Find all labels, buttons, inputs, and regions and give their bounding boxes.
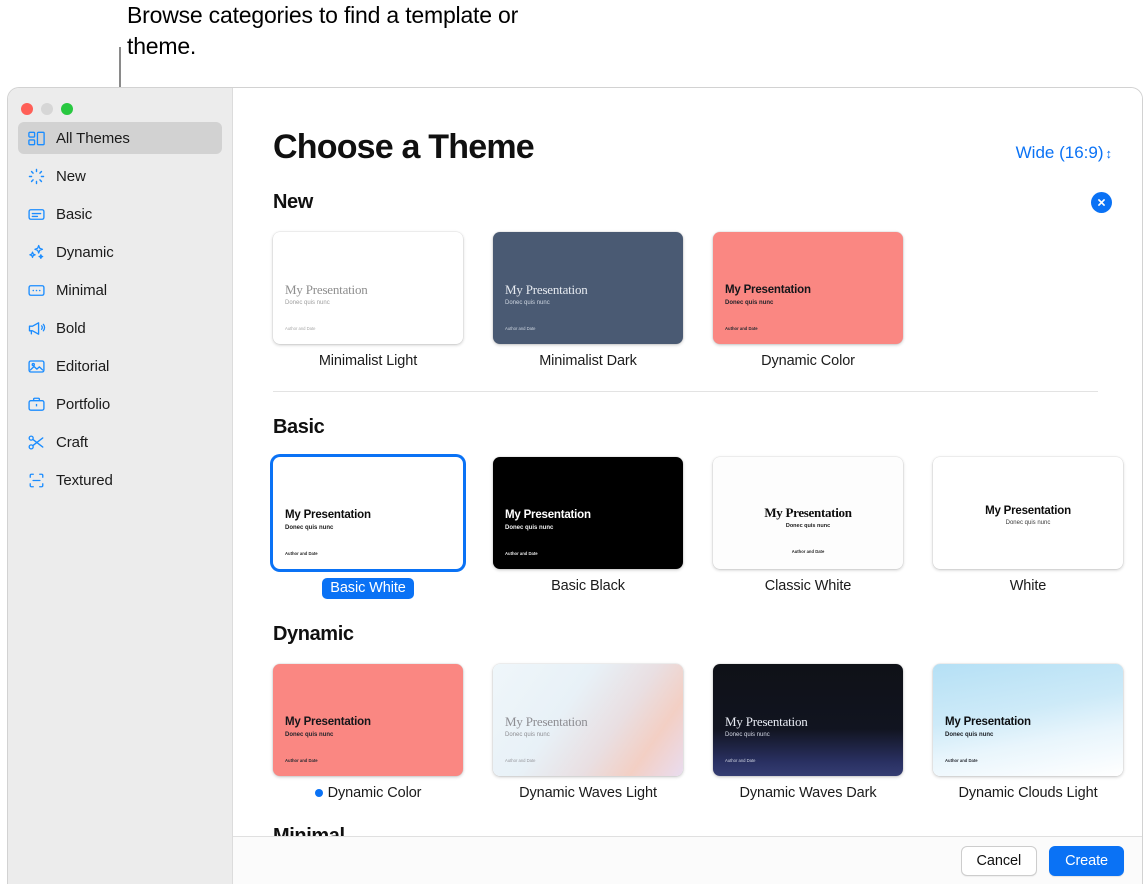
theme-card-classic-white[interactable]: My Presentation Donec quis nunc Author a… <box>713 457 903 594</box>
theme-scroll-area[interactable]: Choose a Theme Wide (16:9)↕ New <box>233 88 1142 836</box>
megaphone-icon <box>27 319 46 338</box>
sidebar-item-basic[interactable]: Basic <box>18 198 222 230</box>
theme-card-label: Basic White <box>273 578 463 599</box>
zoom-window-button[interactable] <box>61 103 73 115</box>
thumb-title: My Presentation <box>285 716 371 728</box>
scissors-icon <box>27 433 46 452</box>
sidebar-item-label: Minimal <box>56 282 107 299</box>
theme-thumbnail: My Presentation Donec quis nunc Author a… <box>273 664 463 776</box>
label-text: Dynamic Color <box>761 353 855 369</box>
thumb-subtitle: Donec quis nunc <box>713 523 903 529</box>
text-box-icon <box>27 205 46 224</box>
theme-card-label: Minimalist Light <box>273 353 463 369</box>
thumb-title: My Presentation <box>505 714 588 730</box>
thumb-footer: Author and Date <box>945 758 978 763</box>
content-header: Choose a Theme Wide (16:9)↕ <box>273 88 1142 167</box>
theme-card-dynamic-color[interactable]: My Presentation Donec quis nunc Author a… <box>273 664 463 801</box>
thumb-footer: Author and Date <box>725 758 756 763</box>
section-minimal: Minimal <box>273 801 1142 836</box>
sidebar-item-label: Basic <box>56 206 92 223</box>
photo-icon <box>27 357 46 376</box>
label-text: Dynamic Clouds Light <box>958 785 1097 801</box>
thumb-subtitle: Donec quis nunc <box>945 732 993 738</box>
thumb-title: My Presentation <box>505 282 588 298</box>
thumb-title: My Presentation <box>725 714 808 730</box>
theme-thumbnail: My Presentation Donec quis nunc Author a… <box>713 232 903 344</box>
theme-card-label: Minimalist Dark <box>493 353 683 369</box>
content-pane: Choose a Theme Wide (16:9)↕ New <box>233 88 1142 884</box>
thumb-subtitle: Donec quis nunc <box>505 300 550 306</box>
briefcase-icon <box>27 395 46 414</box>
cancel-button[interactable]: Cancel <box>961 846 1038 876</box>
sidebar-item-portfolio[interactable]: Portfolio <box>18 388 222 420</box>
label-text: White <box>1010 578 1047 594</box>
thumb-title: My Presentation <box>505 509 591 521</box>
chevron-updown-icon: ↕ <box>1106 146 1113 161</box>
page-title: Choose a Theme <box>273 128 534 167</box>
thumb-footer: Author and Date <box>285 326 316 331</box>
sidebar-item-label: Textured <box>56 472 113 489</box>
theme-card-row: My Presentation Donec quis nunc Author a… <box>273 214 1142 369</box>
theme-thumbnail: My Presentation Donec quis nunc Author a… <box>933 664 1123 776</box>
thumb-footer: Author and Date <box>285 758 318 763</box>
thumb-footer: Author and Date <box>505 326 536 331</box>
label-text: Basic Black <box>551 578 625 594</box>
dismiss-new-section-button[interactable] <box>1091 192 1112 213</box>
sidebar-item-label: Portfolio <box>56 396 110 413</box>
thumb-footer: Author and Date <box>713 549 903 554</box>
callout-annotation-text: Browse categories to find a template or … <box>127 0 547 62</box>
thumb-subtitle: Donec quis nunc <box>285 525 333 531</box>
theme-card-label: Basic Black <box>493 578 683 594</box>
thumb-subtitle: Donec quis nunc <box>285 300 330 306</box>
all-themes-icon <box>27 129 46 148</box>
thumb-subtitle: Donec quis nunc <box>505 732 550 738</box>
sidebar-item-editorial[interactable]: Editorial <box>18 350 222 382</box>
sidebar-item-label: Editorial <box>56 358 109 375</box>
thumb-title: My Presentation <box>285 282 368 298</box>
label-text: Dynamic Waves Light <box>519 785 657 801</box>
section-header: Basic <box>273 392 1142 439</box>
theme-card-label: Dynamic Clouds Light <box>933 785 1123 801</box>
label-text: Dynamic Waves Dark <box>739 785 876 801</box>
theme-card-label: Dynamic Waves Light <box>493 785 683 801</box>
sidebar-item-bold[interactable]: Bold <box>18 312 222 344</box>
sidebar-item-minimal[interactable]: Minimal <box>18 274 222 306</box>
thumb-title: My Presentation <box>285 509 371 521</box>
thumb-title: My Presentation <box>713 505 903 521</box>
label-text: Dynamic Color <box>328 785 422 801</box>
theme-card-label: Dynamic Color <box>273 785 463 801</box>
close-window-button[interactable] <box>21 103 33 115</box>
crop-frame-icon <box>27 471 46 490</box>
sidebar-item-label: Dynamic <box>56 244 114 261</box>
theme-thumbnail: My Presentation Donec quis nunc Author a… <box>273 457 463 569</box>
theme-card-minimalist-light[interactable]: My Presentation Donec quis nunc Author a… <box>273 232 463 369</box>
sidebar-item-label: All Themes <box>56 130 130 147</box>
thumb-title: My Presentation <box>933 505 1123 517</box>
dialog-footer: Cancel Create <box>233 836 1142 884</box>
sparkles-icon <box>27 243 46 262</box>
aspect-ratio-value: Wide (16:9) <box>1016 143 1104 162</box>
sparkle-burst-icon <box>27 167 46 186</box>
theme-thumbnail: My Presentation Donec quis nunc Author a… <box>493 664 683 776</box>
theme-card-label: White <box>933 578 1123 594</box>
theme-card-dynamic-color[interactable]: My Presentation Donec quis nunc Author a… <box>713 232 903 369</box>
theme-thumbnail: My Presentation Donec quis nunc Author a… <box>493 457 683 569</box>
theme-card-label: Dynamic Color <box>713 353 903 369</box>
theme-thumbnail: My Presentation Donec quis nunc Author a… <box>713 457 903 569</box>
sidebar-item-label: Craft <box>56 434 88 451</box>
section-title: Dynamic <box>273 623 354 646</box>
section-basic: Basic My Presentation Donec quis nunc Au… <box>273 392 1142 599</box>
label-text: Minimalist Dark <box>539 353 637 369</box>
section-title: Basic <box>273 416 324 439</box>
sidebar-item-label: New <box>56 168 86 185</box>
thumb-footer: Author and Date <box>725 326 758 331</box>
dots-box-icon <box>27 281 46 300</box>
aspect-ratio-select[interactable]: Wide (16:9)↕ <box>1016 143 1112 163</box>
thumb-footer: Author and Date <box>285 551 318 556</box>
window-traffic-lights <box>21 103 73 115</box>
section-header: Minimal <box>273 801 1142 836</box>
section-title: Minimal <box>273 825 345 836</box>
thumb-footer: Author and Date <box>505 551 538 556</box>
thumb-footer: Author and Date <box>505 758 536 763</box>
theme-thumbnail: My Presentation Donec quis nunc Author a… <box>493 232 683 344</box>
sidebar-item-textured[interactable]: Textured <box>18 464 222 496</box>
theme-card-minimalist-dark[interactable]: My Presentation Donec quis nunc Author a… <box>493 232 683 369</box>
thumb-title: My Presentation <box>945 716 1031 728</box>
thumb-subtitle: Donec quis nunc <box>505 525 553 531</box>
minimize-window-button[interactable] <box>41 103 53 115</box>
create-button[interactable]: Create <box>1049 846 1124 876</box>
theme-thumbnail: My Presentation Donec quis nunc Author a… <box>713 664 903 776</box>
section-header: New <box>273 167 1142 214</box>
thumb-subtitle: Donec quis nunc <box>933 520 1123 526</box>
section-dynamic: Dynamic My Presentation Donec quis nunc … <box>273 599 1142 801</box>
thumb-subtitle: Donec quis nunc <box>725 732 770 738</box>
section-header: Dynamic <box>273 599 1142 646</box>
sidebar-item-craft[interactable]: Craft <box>18 426 222 458</box>
sidebar-category-list: All Themes New Basic <box>8 122 232 496</box>
label-text: Classic White <box>765 578 852 594</box>
theme-card-basic-black[interactable]: My Presentation Donec quis nunc Author a… <box>493 457 683 594</box>
thumb-title: My Presentation <box>725 284 811 296</box>
sidebar-item-new[interactable]: New <box>18 160 222 192</box>
thumb-subtitle: Donec quis nunc <box>725 300 773 306</box>
thumb-subtitle: Donec quis nunc <box>285 732 333 738</box>
selected-label-pill: Basic White <box>322 578 413 599</box>
active-theme-dot <box>315 789 323 797</box>
label-text: Minimalist Light <box>319 353 417 369</box>
theme-card-dynamic-clouds-light[interactable]: My Presentation Donec quis nunc Author a… <box>933 664 1123 801</box>
sidebar: All Themes New Basic <box>8 88 233 884</box>
sidebar-item-label: Bold <box>56 320 86 337</box>
theme-thumbnail: My Presentation Donec quis nunc Author a… <box>273 232 463 344</box>
theme-card-label: Classic White <box>713 578 903 594</box>
sidebar-item-dynamic[interactable]: Dynamic <box>18 236 222 268</box>
theme-card-row: My Presentation Donec quis nunc Author a… <box>273 439 1142 599</box>
theme-card-white[interactable]: My Presentation Donec quis nunc Author a… <box>933 457 1123 594</box>
section-new: New My Presentation Donec quis nunc Auth… <box>273 167 1142 369</box>
theme-card-row: My Presentation Donec quis nunc Author a… <box>273 646 1142 801</box>
theme-card-label: Dynamic Waves Dark <box>713 785 903 801</box>
section-title: New <box>273 191 313 214</box>
theme-card-dynamic-waves-light[interactable]: My Presentation Donec quis nunc Author a… <box>493 664 683 801</box>
theme-chooser-window: All Themes New Basic <box>8 88 1142 884</box>
theme-thumbnail: My Presentation Donec quis nunc Author a… <box>933 457 1123 569</box>
sidebar-item-all-themes[interactable]: All Themes <box>18 122 222 154</box>
theme-card-dynamic-waves-dark[interactable]: My Presentation Donec quis nunc Author a… <box>713 664 903 801</box>
theme-card-basic-white[interactable]: My Presentation Donec quis nunc Author a… <box>273 457 463 599</box>
